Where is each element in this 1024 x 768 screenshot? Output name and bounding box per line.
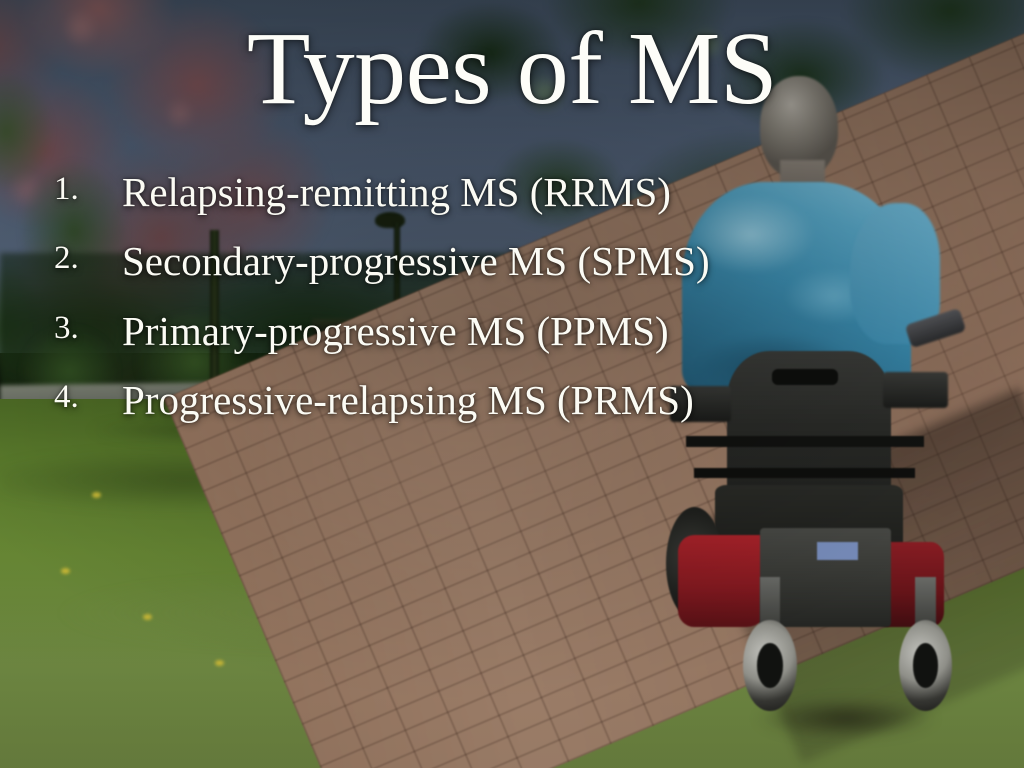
page-title: Types of MS bbox=[0, 14, 1024, 124]
list-item: 2. Secondary-progressive MS (SPMS) bbox=[48, 235, 950, 287]
list-item-number: 2. bbox=[54, 237, 98, 279]
list-item-number: 4. bbox=[54, 376, 98, 418]
list-item-label: Relapsing-remitting MS (RRMS) bbox=[122, 166, 950, 218]
presentation-slide: Types of MS 1. Relapsing-remitting MS (R… bbox=[0, 0, 1024, 768]
list-item-label: Primary-progressive MS (PPMS) bbox=[122, 305, 950, 357]
slide-content: Types of MS 1. Relapsing-remitting MS (R… bbox=[0, 0, 1024, 768]
list-item: 3. Primary-progressive MS (PPMS) bbox=[48, 305, 950, 357]
list-item-label: Secondary-progressive MS (SPMS) bbox=[122, 235, 950, 287]
ms-types-list: 1. Relapsing-remitting MS (RRMS) 2. Seco… bbox=[48, 166, 950, 444]
list-item-number: 3. bbox=[54, 307, 98, 349]
list-item-label: Progressive-relapsing MS (PRMS) bbox=[122, 374, 950, 426]
list-item-number: 1. bbox=[54, 168, 98, 210]
list-item: 4. Progressive-relapsing MS (PRMS) bbox=[48, 374, 950, 426]
list-item: 1. Relapsing-remitting MS (RRMS) bbox=[48, 166, 950, 218]
